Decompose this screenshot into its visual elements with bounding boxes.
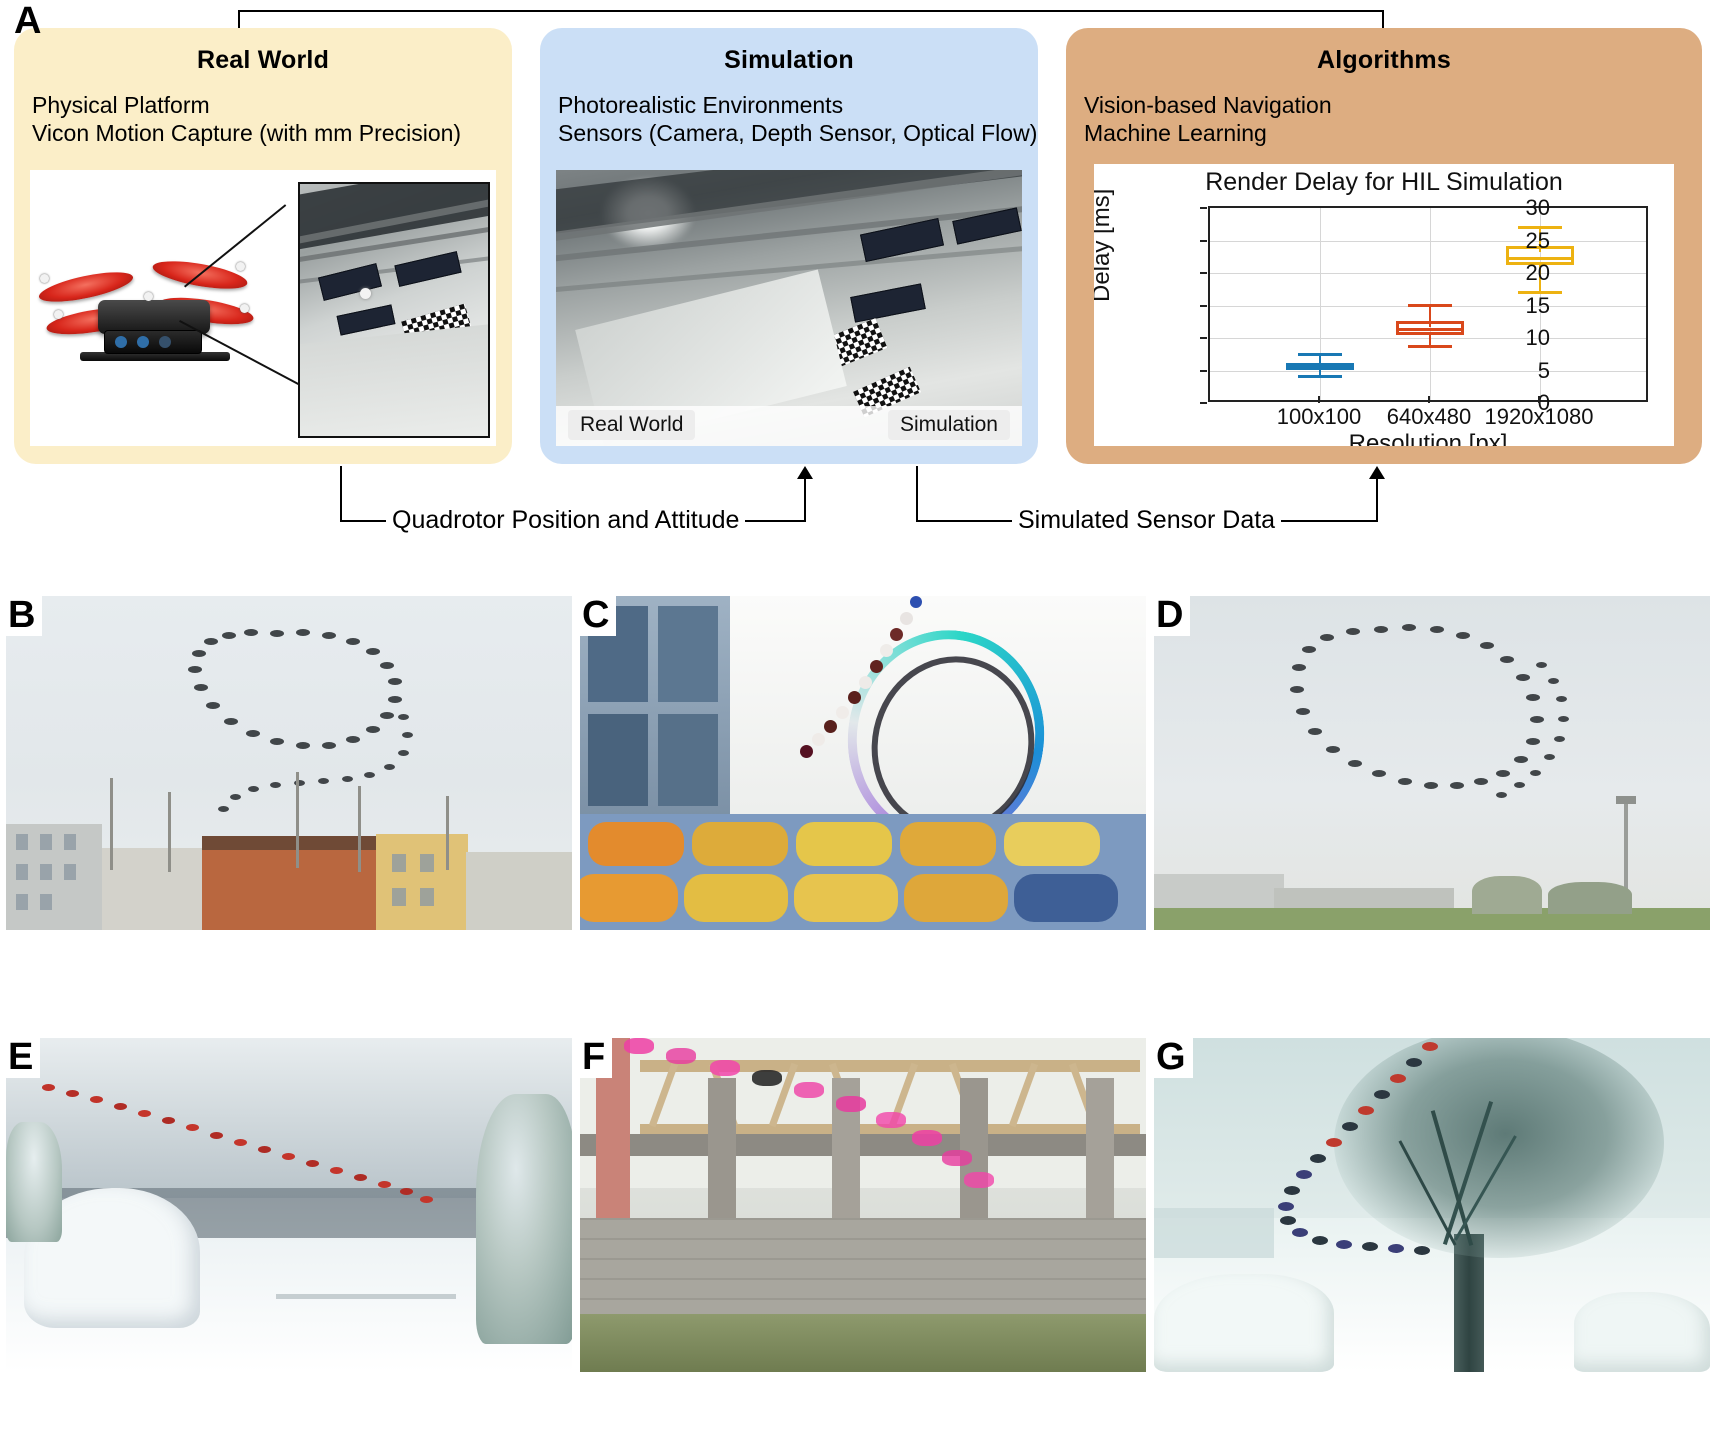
- median-line-2: [1396, 328, 1464, 331]
- snow-mound-g: [1154, 1274, 1334, 1372]
- sim-tag-simulation: Simulation: [888, 410, 1010, 440]
- ytick-label-20: 20: [1526, 260, 1550, 286]
- vicon-marker: [144, 292, 153, 301]
- ytick-0: [1200, 402, 1207, 404]
- wall-panel: [318, 263, 382, 301]
- flow-arrow-right-stem-down: [916, 466, 918, 522]
- wall-panel: [394, 251, 461, 287]
- panel-letter-a: A: [14, 2, 41, 40]
- gridline-20: [1210, 273, 1646, 274]
- block-wall-f: [580, 1218, 1146, 1318]
- motion-capture-hall-inset: [298, 182, 490, 438]
- gridline-25: [1210, 241, 1646, 242]
- building-right: [466, 852, 572, 930]
- wall-panel: [337, 304, 396, 335]
- whisker-upper-cap-2: [1408, 304, 1452, 307]
- ytick-label-30: 30: [1526, 195, 1550, 221]
- light-head-d: [1616, 796, 1636, 804]
- panel-letter-f: F: [580, 1038, 612, 1078]
- panel-letter-e: E: [6, 1038, 40, 1078]
- xtick-label-640x480: 640x480: [1387, 404, 1471, 430]
- xtick-1920x1080: [1538, 396, 1540, 403]
- real-world-line-2: Vicon Motion Capture (with mm Precision): [32, 119, 512, 147]
- xtick-label-100x100: 100x100: [1277, 404, 1361, 430]
- mast: [296, 772, 299, 868]
- ytick-5: [1200, 370, 1207, 372]
- flow-box-title-real-world: Real World: [14, 46, 512, 75]
- panel-a-system-overview: A Real World Physical Platform Vicon Mot…: [0, 0, 1716, 530]
- flow-arrow-right-stem-up: [1376, 478, 1378, 522]
- tree-d: [1472, 876, 1542, 914]
- flow-arrow-left-stem-up: [804, 478, 806, 522]
- flow-box-lines-simulation: Photorealistic Environments Sensors (Cam…: [558, 91, 1038, 147]
- gridline-10: [1210, 338, 1646, 339]
- drone-trajectory-f: [624, 1038, 1044, 1198]
- sim-wall-panel: [850, 283, 926, 322]
- photo-panel-e: [6, 1038, 572, 1372]
- chart-y-axis-label: Delay [ms]: [1094, 189, 1116, 302]
- flow-label-quadrotor-position: Quadrotor Position and Attitude: [386, 506, 745, 535]
- mast: [446, 796, 449, 870]
- ytick-20: [1200, 272, 1207, 274]
- window-pane: [658, 714, 718, 806]
- mast: [110, 778, 113, 870]
- chart-x-axis-label: Resolution [px]: [1208, 430, 1648, 446]
- gridline-5: [1210, 371, 1646, 372]
- drone-trajectory-c: [792, 596, 1032, 826]
- photo-panel-b: [6, 596, 572, 930]
- vicon-marker: [40, 274, 49, 283]
- photo-panel-c: [580, 596, 1146, 930]
- ytick-label-10: 10: [1526, 325, 1550, 351]
- flow-box-lines-algorithms: Vision-based Navigation Machine Learning: [1084, 91, 1702, 147]
- median-line-1: [1286, 366, 1354, 369]
- hall-ceiling: [298, 182, 490, 250]
- flow-arrow-right-head: [1369, 466, 1385, 479]
- ytick-10: [1200, 337, 1207, 339]
- vicon-marker: [240, 304, 249, 313]
- simulation-photo-comparison: Real World Simulation: [556, 170, 1022, 446]
- chart-title: Render Delay for HIL Simulation: [1094, 168, 1674, 197]
- simulation-line-2: Sensors (Camera, Depth Sensor, Optical F…: [558, 119, 1038, 147]
- ytick-label-15: 15: [1526, 293, 1550, 319]
- ytick-label-5: 5: [1538, 358, 1550, 384]
- flow-box-title-simulation: Simulation: [540, 46, 1038, 75]
- flow-box-title-algorithms: Algorithms: [1066, 46, 1702, 75]
- drone-trajectory-loop-d: [1244, 622, 1584, 822]
- panel-letter-d: D: [1154, 596, 1190, 636]
- panel-letter-g: G: [1154, 1038, 1193, 1078]
- algorithms-line-2: Machine Learning: [1084, 119, 1702, 147]
- window-pane: [588, 714, 648, 806]
- algorithms-line-1: Vision-based Navigation: [1084, 91, 1702, 119]
- ytick-label-25: 25: [1526, 228, 1550, 254]
- chart-plot-area: [1208, 206, 1648, 402]
- xtick-label-1920x1080: 1920x1080: [1485, 404, 1594, 430]
- xtick-100x100: [1318, 396, 1320, 403]
- building-red-roof: [202, 836, 380, 850]
- ytick-30: [1200, 207, 1207, 209]
- panel-letter-c: C: [580, 596, 616, 636]
- fence-e: [276, 1294, 456, 1299]
- snowy-bush-e: [6, 1122, 62, 1242]
- distant-haze-g: [1154, 1208, 1274, 1258]
- tracked-sphere: [360, 288, 371, 299]
- hall-floor: [298, 323, 490, 438]
- vicon-marker: [236, 262, 245, 271]
- snowy-tree-e: [476, 1094, 572, 1344]
- flow-box-lines-real-world: Physical Platform Vicon Motion Capture (…: [32, 91, 512, 147]
- quadrotor-illustration: [40, 248, 270, 388]
- tree-d: [1548, 882, 1632, 914]
- mast: [168, 792, 171, 872]
- mast: [358, 786, 361, 872]
- window-pane: [658, 606, 718, 702]
- building-yellow: [376, 834, 468, 930]
- building-red: [202, 844, 380, 930]
- whisker-lower-cap-2: [1408, 345, 1452, 348]
- whisker-upper-cap-1: [1298, 353, 1342, 356]
- panel-letter-b: B: [6, 596, 42, 636]
- render-delay-boxplot-chart: Render Delay for HIL Simulation Delay [m…: [1094, 164, 1674, 446]
- feedback-arrow-top: [238, 10, 1384, 12]
- flow-arrow-left-stem-down: [340, 466, 342, 522]
- flow-arrow-left-head: [797, 466, 813, 479]
- xtick-640x480: [1428, 396, 1430, 403]
- grass-f: [580, 1314, 1146, 1372]
- simulation-line-1: Photorealistic Environments: [558, 91, 1038, 119]
- onboard-camera: [104, 330, 202, 354]
- flow-label-simulated-sensor-data: Simulated Sensor Data: [1012, 506, 1281, 535]
- whisker-lower-cap-1: [1298, 375, 1342, 378]
- photo-panel-g: [1154, 1038, 1710, 1372]
- photo-panel-f: [580, 1038, 1146, 1372]
- real-world-photo: [30, 170, 496, 446]
- vicon-marker: [54, 310, 63, 319]
- snow-mound-g: [1574, 1292, 1710, 1372]
- sim-tag-real-world: Real World: [568, 410, 695, 440]
- real-world-line-1: Physical Platform: [32, 91, 512, 119]
- photo-panel-d: [1154, 596, 1710, 930]
- ytick-15: [1200, 305, 1207, 307]
- ytick-25: [1200, 240, 1207, 242]
